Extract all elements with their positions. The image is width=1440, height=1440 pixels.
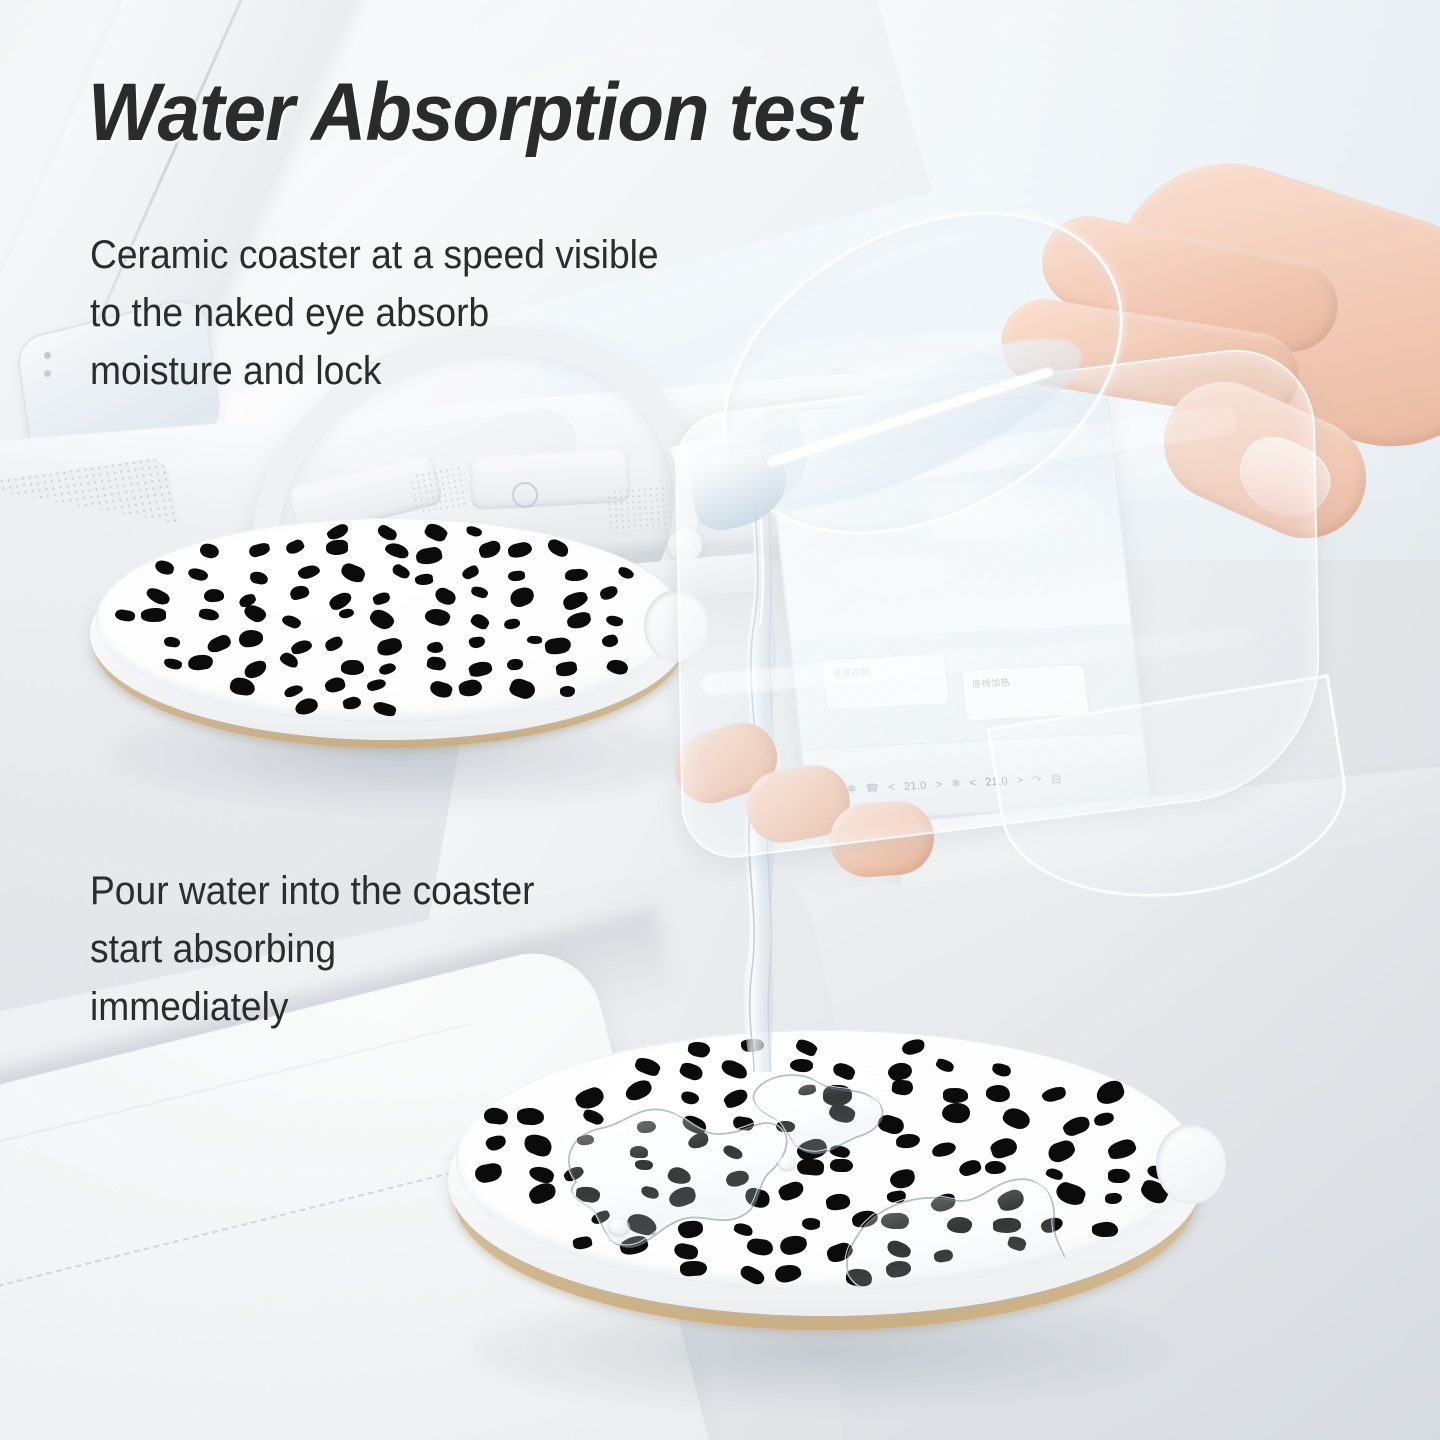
polka-dot: [601, 634, 618, 648]
coaster-top-face-wet: [456, 1030, 1194, 1288]
polka-dot: [885, 1259, 912, 1278]
coaster-top-face-dry: [96, 518, 682, 720]
polka-dot: [141, 607, 167, 622]
polka-dot: [605, 657, 629, 676]
polka-dot: [248, 541, 271, 559]
polka-dot: [733, 1115, 756, 1131]
polka-dot: [285, 538, 306, 556]
polka-dot: [885, 1239, 913, 1261]
polka-dot: [545, 537, 571, 560]
polka-dot: [830, 1158, 853, 1171]
polka-dot: [572, 1235, 592, 1250]
polka-dot: [564, 569, 587, 583]
polka-dot: [677, 1220, 703, 1239]
polka-dot: [1093, 1078, 1127, 1107]
polka-dot: [824, 1191, 850, 1211]
polka-dot: [559, 686, 574, 697]
polka-dot: [941, 1103, 970, 1124]
polka-dot: [629, 1146, 647, 1159]
polka-dot: [164, 636, 181, 648]
polka-dot: [622, 1077, 653, 1104]
polka-dot: [508, 570, 526, 581]
polka-dot: [985, 1160, 1006, 1173]
polka-dot: [1046, 1139, 1077, 1165]
hand-pouring-glass: [640, 180, 1440, 880]
polka-dot: [635, 1160, 653, 1170]
polka-dot: [477, 538, 503, 559]
polka-dot: [1108, 1168, 1130, 1182]
polka-dot: [573, 1085, 606, 1113]
polka-dot: [366, 677, 387, 691]
polka-dot: [743, 1186, 772, 1210]
polka-dot: [1054, 1180, 1088, 1208]
polka-dot: [144, 585, 172, 608]
polka-dot: [666, 1164, 693, 1186]
polka-dot: [1061, 1114, 1092, 1139]
polka-dot: [581, 1108, 605, 1127]
polka-dot: [598, 584, 619, 602]
polka-dot: [242, 659, 269, 681]
polka-dot: [426, 656, 446, 671]
polka-dot: [281, 613, 302, 630]
polka-dot: [424, 606, 452, 627]
polka-dot: [229, 677, 256, 697]
polka-dot: [428, 680, 453, 701]
polka-dot: [203, 588, 224, 603]
polka-dot: [465, 525, 483, 539]
caption-top: Ceramic coaster at a speed visible to th…: [90, 226, 659, 400]
polka-dot: [831, 1060, 857, 1082]
polka-dot: [946, 1216, 972, 1234]
polka-dot: [1039, 1215, 1065, 1236]
polka-dot: [522, 1130, 555, 1159]
polka-dot: [323, 635, 344, 654]
polka-dot: [470, 585, 489, 600]
polka-dot: [516, 1107, 544, 1125]
polka-dot: [290, 637, 314, 656]
polka-dot: [371, 591, 391, 607]
polka-dot: [526, 636, 542, 645]
water-puddles: [456, 1030, 1194, 1288]
polka-dot: [881, 1213, 909, 1230]
polka-dot: [774, 1262, 803, 1284]
polka-dot: [988, 1135, 1018, 1161]
polka-dot: [426, 642, 442, 654]
polka-dot: [722, 1087, 750, 1111]
polka-dot: [473, 1161, 503, 1184]
polka-dot: [323, 675, 346, 694]
polka-dot: [679, 1260, 707, 1277]
polka-dot: [433, 585, 458, 608]
polka-dot: [929, 1191, 958, 1216]
polka-dot: [876, 1113, 906, 1137]
product-infographic: 温度控制 座椅加热 ♫ ⌸ ❃ ☎ < 21.0 > ❄ < 21.0 > ↷ …: [0, 0, 1440, 1440]
polka-dot: [163, 658, 182, 670]
polka-dot: [469, 612, 491, 632]
polka-dot: [935, 1057, 956, 1074]
polka-dot: [340, 660, 364, 675]
polka-dot: [823, 1085, 852, 1106]
polka-dot: [725, 1168, 752, 1190]
polka-dot: [900, 1037, 927, 1058]
polka-dot: [777, 1179, 806, 1203]
polka-dot: [776, 1120, 796, 1132]
polka-dot: [527, 1164, 555, 1185]
polka-dot: [507, 659, 523, 671]
polka-dot: [933, 1248, 954, 1264]
polka-dot: [846, 1267, 874, 1287]
water-droplet: [608, 1218, 630, 1236]
polka-dot: [798, 1083, 818, 1096]
polka-dot: [555, 661, 577, 677]
polka-dot: [1045, 1167, 1065, 1181]
polka-dot: [666, 1184, 698, 1211]
polka-dot: [484, 1107, 509, 1125]
polka-dot: [895, 1133, 920, 1149]
polka-dot: [778, 1234, 808, 1257]
polka-dot: [367, 606, 396, 632]
polka-dot: [283, 683, 304, 699]
polka-dot: [640, 1185, 660, 1200]
polka-dot: [746, 1238, 773, 1257]
polka-dot: [985, 1084, 1010, 1102]
polka-dot: [249, 570, 269, 585]
polka-dot: [326, 540, 349, 556]
polka-dot: [469, 636, 486, 648]
polka-dot: [673, 1242, 700, 1262]
polka-dot: [527, 1179, 559, 1207]
polka-dot: [414, 573, 434, 586]
polka-dot: [617, 565, 635, 580]
polka-dot: [239, 629, 264, 648]
polka-dot: [378, 662, 397, 677]
page-title: Water Absorption test: [88, 72, 861, 154]
polka-dot: [423, 521, 450, 544]
polka-dot: [943, 1088, 969, 1103]
polka-dot: [993, 1218, 1021, 1234]
polka-dot: [991, 1061, 1013, 1078]
polka-dot: [891, 1079, 913, 1096]
polka-dot: [187, 567, 210, 583]
ceramic-coaster-dry: [86, 512, 692, 762]
polka-dot: [738, 1263, 766, 1287]
polka-dot: [415, 545, 443, 565]
polka-dot: [1105, 1192, 1124, 1205]
finger-groove-bottom: [1156, 1124, 1226, 1204]
polka-dot: [802, 1217, 820, 1230]
polka-dot: [566, 610, 593, 630]
polka-dot: [507, 541, 533, 560]
polka-dot: [1000, 1105, 1031, 1131]
polka-dot: [375, 523, 398, 544]
polka-dot: [289, 584, 311, 602]
polka-dot: [797, 1158, 825, 1176]
polka-dot: [957, 1158, 982, 1178]
polka-dot: [1041, 1085, 1067, 1104]
polka-dot: [198, 541, 221, 561]
polka-dot: [460, 564, 480, 582]
polka-dot: [297, 563, 322, 581]
polka-dot: [187, 653, 214, 672]
polka-dot: [931, 1141, 957, 1158]
polka-dot: [637, 1121, 657, 1133]
polka-dot: [242, 602, 268, 625]
polka-dot: [1092, 1221, 1119, 1237]
polka-dot: [293, 696, 320, 718]
caption-bottom: Pour water into the coaster start absorb…: [90, 862, 535, 1036]
polka-dot: [1006, 1234, 1027, 1252]
polka-dot: [508, 676, 538, 702]
polka-dot: [995, 1187, 1027, 1215]
polka-dot: [508, 585, 537, 610]
polka-dot: [605, 614, 624, 627]
polka-dot: [458, 678, 484, 699]
polka-dot: [342, 696, 362, 712]
polka-dot: [575, 1185, 600, 1202]
polka-dot: [828, 1103, 857, 1125]
polka-dot: [198, 608, 220, 623]
polka-dot: [154, 559, 175, 576]
polka-dot: [338, 607, 355, 620]
polka-dot: [504, 617, 522, 630]
polka-dot: [339, 562, 367, 585]
polka-dot: [732, 1221, 754, 1237]
polka-dot: [850, 1209, 879, 1230]
polka-dot: [561, 589, 590, 613]
polka-dot: [384, 541, 411, 561]
polka-dot: [544, 636, 572, 656]
polka-dot: [825, 1240, 855, 1265]
polka-dot: [375, 636, 403, 657]
polka-dot: [1093, 1111, 1116, 1129]
polka-dot: [887, 1190, 907, 1204]
polka-dot: [888, 1168, 916, 1190]
polka-dot: [562, 1164, 585, 1184]
polka-dot: [114, 609, 135, 624]
polka-dot: [686, 1131, 711, 1152]
polka-dot: [485, 1133, 508, 1152]
ceramic-coaster-wet: [440, 1020, 1210, 1350]
polka-dot: [618, 1234, 649, 1258]
polka-dot: [633, 1055, 662, 1078]
water-droplet: [778, 1156, 796, 1171]
polka-dot: [679, 1091, 699, 1107]
polka-dot: [577, 1134, 596, 1146]
polka-dot: [390, 562, 411, 581]
polka-dot: [468, 659, 494, 678]
polka-dot: [1106, 1137, 1138, 1162]
polka-dot: [829, 1144, 850, 1159]
polka-dot: [371, 700, 396, 718]
polka-dot: [722, 1144, 745, 1162]
polka-dot: [205, 633, 232, 655]
